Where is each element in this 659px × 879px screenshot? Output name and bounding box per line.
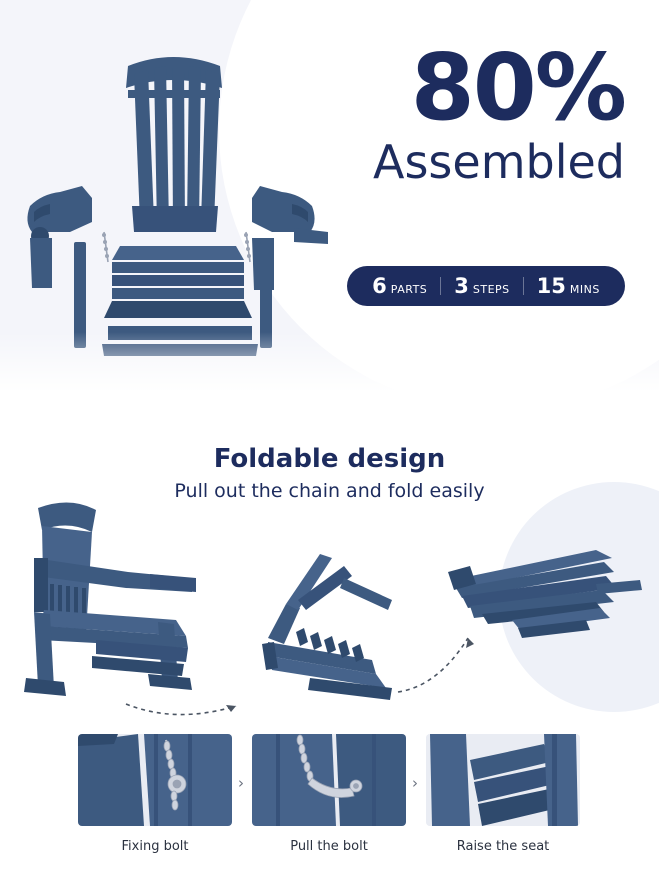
assembled-label: Assembled xyxy=(373,137,625,188)
step-image-pull-bolt xyxy=(252,734,406,826)
raise-seat-photo xyxy=(426,734,580,826)
stat-parts-unit: PARTS xyxy=(391,283,428,296)
step-separator-2: › xyxy=(412,774,418,792)
percent-value: 80% xyxy=(373,44,625,131)
stat-steps-unit: STEPS xyxy=(473,283,510,296)
chair-stage-folded xyxy=(448,550,642,638)
stat-parts: 6 PARTS xyxy=(359,274,440,298)
stat-steps-number: 3 xyxy=(454,274,469,298)
pull-bolt-photo xyxy=(252,734,406,826)
stat-steps: 3 STEPS xyxy=(441,274,522,298)
step-caption-2: Pull the bolt xyxy=(252,839,406,854)
headline: 80% Assembled xyxy=(373,44,625,188)
folding-sequence-svg xyxy=(0,492,659,722)
flow-arrow-1 xyxy=(126,704,236,715)
step-separator-1: › xyxy=(238,774,244,792)
exploded-chair-illustration xyxy=(8,26,338,366)
chair-stage-open xyxy=(24,502,196,696)
chair-stage-folding xyxy=(262,554,392,700)
stat-mins-unit: MINS xyxy=(570,283,600,296)
stat-mins: 15 MINS xyxy=(524,274,613,298)
step-caption-3: Raise the seat xyxy=(426,839,580,854)
step-image-fixing-bolt xyxy=(78,734,232,826)
product-infographic-page: 80% Assembled 6 PARTS 3 STEPS 15 MINS Fo… xyxy=(0,0,659,879)
steps-section: › › Fixing bolt Pull the bolt Raise the … xyxy=(0,722,659,879)
top-panel: 80% Assembled 6 PARTS 3 STEPS 15 MINS xyxy=(0,0,659,392)
step-image-raise-seat xyxy=(426,734,580,826)
step-caption-1: Fixing bolt xyxy=(78,839,232,854)
stat-parts-number: 6 xyxy=(372,274,387,298)
folding-sequence-illustration xyxy=(0,492,659,722)
exploded-parts-svg xyxy=(8,26,338,366)
foldable-design-section: Foldable design Pull out the chain and f… xyxy=(0,392,659,722)
flow-arrow-1-head xyxy=(226,705,236,712)
stats-pill: 6 PARTS 3 STEPS 15 MINS xyxy=(347,266,625,306)
panel-fade xyxy=(0,332,659,392)
section-title: Foldable design xyxy=(0,444,659,474)
fixing-bolt-photo xyxy=(78,734,232,826)
stat-mins-number: 15 xyxy=(537,274,566,298)
flow-arrow-2 xyxy=(398,638,468,692)
